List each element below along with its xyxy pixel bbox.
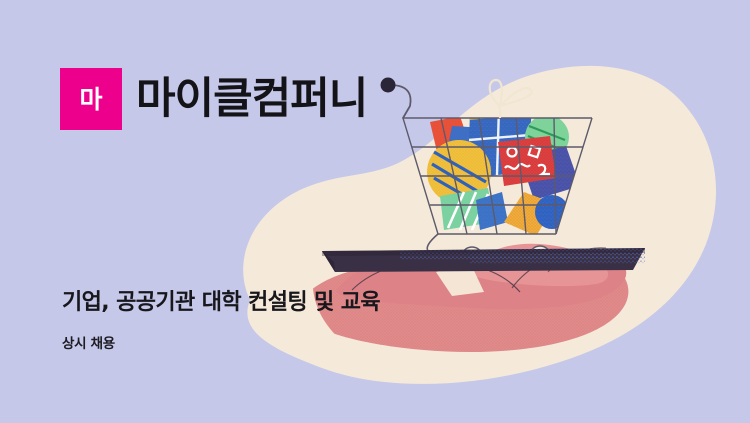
brand-badge: 마 [60,68,122,130]
brand-lockup: 마 마이클컴퍼니 [60,68,367,130]
job-posting-banner: 마 마이클컴퍼니 기업, 공공기관 대학 컨설팅 및 교육 상시 채용 [0,0,750,423]
text-layer: 마 마이클컴퍼니 기업, 공공기관 대학 컨설팅 및 교육 상시 채용 [0,0,750,423]
brand-name: 마이클컴퍼니 [136,78,367,121]
subline: 상시 채용 [62,338,115,352]
headline: 기업, 공공기관 대학 컨설팅 및 교육 [62,292,380,314]
